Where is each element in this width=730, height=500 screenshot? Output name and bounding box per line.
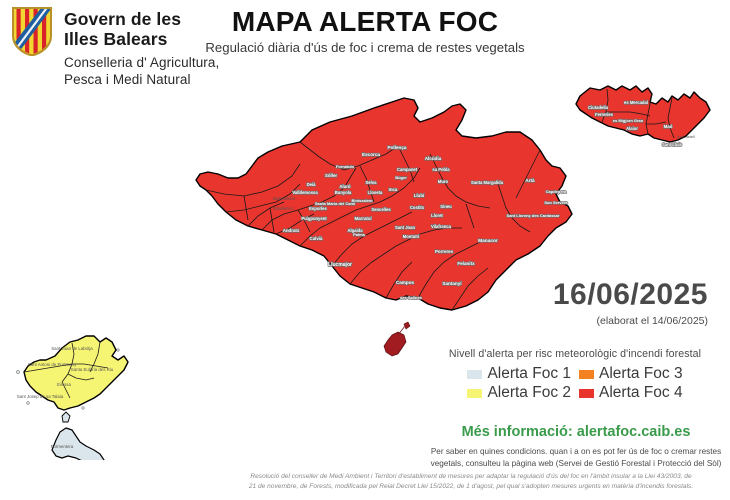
- svg-text:Lloseta: Lloseta: [368, 190, 383, 195]
- legend-swatch-1: [467, 370, 482, 379]
- svg-text:Eivissa: Eivissa: [57, 382, 71, 387]
- svg-text:Deià: Deià: [307, 182, 317, 187]
- svg-text:Escorca: Escorca: [362, 152, 380, 157]
- legend-item-alerta-foc-4: Alerta Foc 4: [579, 384, 683, 402]
- legal-note-line1: Resolució del conseller de Medi Ambient …: [215, 472, 727, 482]
- cabrera-outline: [384, 332, 406, 356]
- svg-text:Santanyí: Santanyí: [442, 281, 462, 286]
- legend-item-alerta-foc-3: Alerta Foc 3: [579, 365, 683, 383]
- svg-text:es Migjorn Gran: es Migjorn Gran: [613, 118, 644, 123]
- svg-text:ses Salines: ses Salines: [400, 295, 423, 300]
- svg-text:Llubí: Llubí: [414, 193, 425, 198]
- svg-text:Son Servera: Son Servera: [544, 200, 568, 205]
- svg-text:Manacor: Manacor: [478, 238, 498, 244]
- legend-title: Nivell d'alerta per risc meteorològic d'…: [430, 348, 720, 360]
- legend-label-4: Alerta Foc 4: [599, 384, 683, 402]
- svg-text:Alaior: Alaior: [626, 126, 638, 131]
- svg-text:Alcúdia: Alcúdia: [425, 156, 442, 161]
- svg-text:Campos: Campos: [396, 280, 415, 285]
- legend-item-alerta-foc-2: Alerta Foc 2: [467, 384, 571, 402]
- svg-text:Estellencs: Estellencs: [273, 206, 292, 211]
- legend: Nivell d'alerta per risc meteorològic d'…: [430, 348, 720, 402]
- cabrera-islet: [404, 322, 410, 329]
- svg-text:Sant Llorenç des Cardassar: Sant Llorenç des Cardassar: [507, 213, 560, 218]
- svg-text:Selva: Selva: [366, 180, 378, 185]
- island-formentera: Formentera: [51, 412, 104, 460]
- alert-date: 16/06/2025: [553, 278, 708, 312]
- svg-text:Muro: Muro: [438, 179, 449, 184]
- svg-text:Artà: Artà: [525, 178, 535, 183]
- legend-label-1: Alerta Foc 1: [487, 365, 571, 383]
- svg-text:Pollença: Pollença: [388, 145, 407, 150]
- svg-text:es Mercadal: es Mercadal: [624, 100, 648, 105]
- svg-text:Costitx: Costitx: [410, 205, 425, 210]
- info-note-line2: vegetals, consulteu la pàgina web (Serve…: [425, 458, 727, 470]
- page-title: MAPA ALERTA FOC: [0, 6, 730, 38]
- legal-note-line2: 21 de novembre, de Forests, modificada p…: [215, 482, 727, 492]
- svg-text:Santa Eulària des Riu: Santa Eulària des Riu: [71, 367, 114, 372]
- svg-text:es Castell: es Castell: [677, 134, 695, 139]
- svg-text:Sant Joan: Sant Joan: [395, 225, 415, 230]
- svg-text:Maó: Maó: [664, 124, 673, 129]
- alert-date-note: (elaborat el 14/06/2025): [597, 315, 709, 327]
- page-subtitle: Regulació diària d'ús de foc i crema de …: [0, 40, 730, 55]
- svg-text:Capdepera: Capdepera: [546, 189, 567, 194]
- svg-text:Valldemossa: Valldemossa: [292, 190, 318, 195]
- svg-text:Porreres: Porreres: [435, 249, 454, 254]
- info-note: Per saber en quines condicions. quan i a…: [425, 446, 727, 469]
- legend-label-2: Alerta Foc 2: [487, 384, 571, 402]
- formentera-label: Formentera: [51, 444, 74, 449]
- mallorca-outline: [196, 98, 572, 310]
- svg-text:Sant Joan de Labritja: Sant Joan de Labritja: [51, 346, 93, 351]
- svg-text:Montuïri: Montuïri: [403, 234, 420, 239]
- svg-text:Sant Antoni de Portmany: Sant Antoni de Portmany: [28, 362, 77, 367]
- svg-text:Palma: Palma: [353, 232, 366, 237]
- svg-text:sa Pobla: sa Pobla: [432, 167, 450, 172]
- svg-text:Santa Margalida: Santa Margalida: [471, 180, 504, 185]
- legend-items: Alerta Foc 1 Alerta Foc 3 Alerta Foc 2 A…: [430, 365, 720, 402]
- svg-text:Inca: Inca: [389, 187, 398, 192]
- island-cabrera: [384, 322, 410, 356]
- svg-text:Sineu: Sineu: [440, 204, 452, 209]
- formentera-islet: [62, 412, 70, 422]
- svg-text:Ciutadella: Ciutadella: [588, 105, 609, 110]
- svg-text:Sencelles: Sencelles: [371, 207, 391, 212]
- legend-swatch-3: [579, 370, 594, 379]
- island-eivissa: Sant Joan de Labritja Sant Antoni de Por…: [17, 336, 128, 410]
- svg-text:Fornalutx: Fornalutx: [336, 164, 355, 169]
- island-menorca: Ciutadella es Mercadal Ferreries es Migj…: [576, 86, 710, 147]
- more-info-link[interactable]: Més informació: alertafoc.caib.es: [430, 424, 722, 440]
- mapa-alerta-foc-page: Govern de les Illes Balears Conselleria …: [0, 0, 730, 500]
- svg-text:Sant Lluís: Sant Lluís: [662, 142, 683, 147]
- island-mallorca: [196, 98, 572, 310]
- svg-text:Ferreries: Ferreries: [595, 112, 614, 117]
- svg-text:Vilafranca: Vilafranca: [431, 224, 452, 229]
- svg-text:Llucmajor: Llucmajor: [328, 262, 352, 268]
- legend-item-alerta-foc-1: Alerta Foc 1: [467, 365, 571, 383]
- svg-text:Marratxí: Marratxí: [354, 216, 372, 221]
- svg-text:Búger: Búger: [395, 175, 407, 180]
- svg-text:Puigpunyent: Puigpunyent: [301, 216, 327, 221]
- svg-text:Lloret: Lloret: [431, 213, 443, 218]
- svg-text:Campanet: Campanet: [397, 167, 418, 172]
- svg-text:Alaró: Alaró: [339, 184, 351, 189]
- svg-text:Banyalbufar: Banyalbufar: [273, 196, 296, 201]
- legend-swatch-2: [467, 389, 482, 398]
- svg-text:Esporles: Esporles: [309, 206, 327, 211]
- svg-text:Sant Josep de sa Talaia: Sant Josep de sa Talaia: [17, 394, 64, 399]
- svg-text:Sóller: Sóller: [325, 173, 337, 178]
- svg-text:Felanitx: Felanitx: [457, 261, 475, 266]
- svg-text:Bunyola: Bunyola: [335, 190, 352, 195]
- svg-text:Calvià: Calvià: [310, 236, 323, 241]
- legend-swatch-4: [579, 389, 594, 398]
- info-note-line1: Per saber en quines condicions. quan i a…: [425, 446, 727, 458]
- svg-text:Andratx: Andratx: [283, 228, 300, 233]
- legend-label-3: Alerta Foc 3: [599, 365, 683, 383]
- legal-note: Resolució del conseller de Medi Ambient …: [215, 472, 727, 492]
